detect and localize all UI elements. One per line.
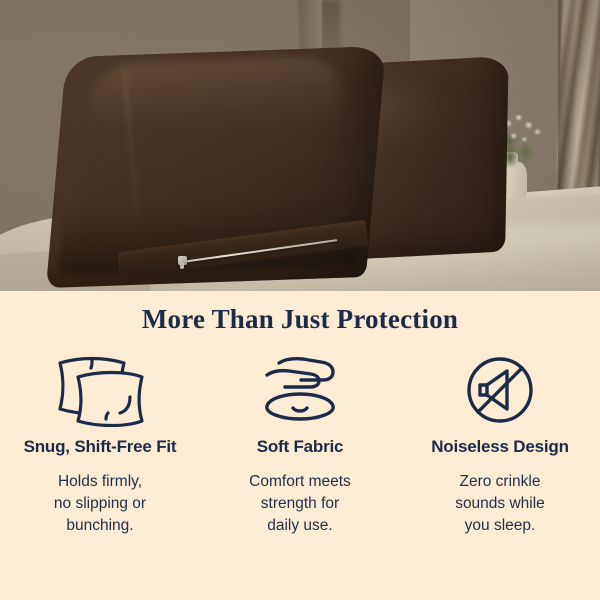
panel-headline: More Than Just Protection [0,304,600,335]
feature-description: Holds firmly, no slipping or bunching. [54,471,146,537]
zipper-tab-icon [180,263,184,269]
feature-item-soft-fabric: Soft Fabric Comfort meets strength for d… [200,349,400,537]
feature-item-noiseless: Noiseless Design Zero crinkle sounds whi… [400,349,600,537]
feature-title: Snug, Shift-Free Fit [24,437,177,457]
feature-title: Soft Fabric [257,437,344,457]
muted-speaker-icon [461,349,539,431]
features-panel: More Than Just Protection Snug, Shift-Fr… [0,291,600,600]
feature-title: Noiseless Design [431,437,569,457]
feature-description: Zero crinkle sounds while you sleep. [455,471,545,537]
feature-description: Comfort meets strength for daily use. [249,471,351,537]
two-pillows-icon [52,349,148,431]
hand-on-soft-pillow-icon [255,349,345,431]
feature-item-snug-fit: Snug, Shift-Free Fit Holds firmly, no sl… [0,349,200,537]
product-feature-card: More Than Just Protection Snug, Shift-Fr… [0,0,600,600]
product-photo [0,0,600,291]
features-row: Snug, Shift-Free Fit Holds firmly, no sl… [0,349,600,537]
